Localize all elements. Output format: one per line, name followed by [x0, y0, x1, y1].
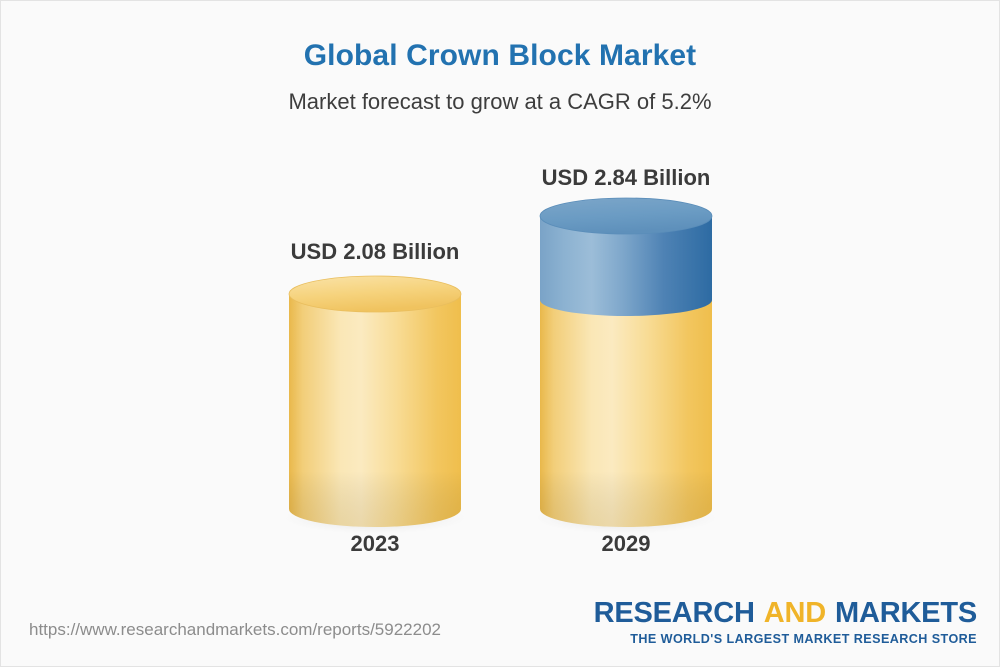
category-label-2029: 2029 — [535, 531, 717, 557]
cylinder-bar-chart — [1, 1, 1000, 667]
cylinder-2023 — [283, 276, 467, 534]
brand-and: AND — [764, 597, 826, 629]
cylinder-2023-top — [289, 276, 461, 312]
brand-logo: RESEARCHANDMARKETS THE WORLD'S LARGEST M… — [594, 599, 977, 646]
cylinder-2023-bottom-shade — [289, 471, 461, 527]
brand-tagline: THE WORLD'S LARGEST MARKET RESEARCH STOR… — [594, 633, 977, 646]
cylinder-2029-bottom-shade — [540, 471, 712, 527]
value-label-2029: USD 2.84 Billion — [535, 165, 717, 191]
cylinder-2029-top — [540, 198, 712, 234]
brand-markets: MARKETS — [835, 597, 977, 629]
source-url[interactable]: https://www.researchandmarkets.com/repor… — [29, 620, 441, 640]
brand-research: RESEARCH — [594, 597, 755, 629]
brand-wordmark: RESEARCHANDMARKETS — [594, 599, 977, 628]
value-label-2023: USD 2.08 Billion — [284, 239, 466, 265]
cylinder-2029 — [534, 198, 718, 534]
infographic-canvas: Global Crown Block Market Market forecas… — [0, 0, 1000, 667]
category-label-2023: 2023 — [284, 531, 466, 557]
